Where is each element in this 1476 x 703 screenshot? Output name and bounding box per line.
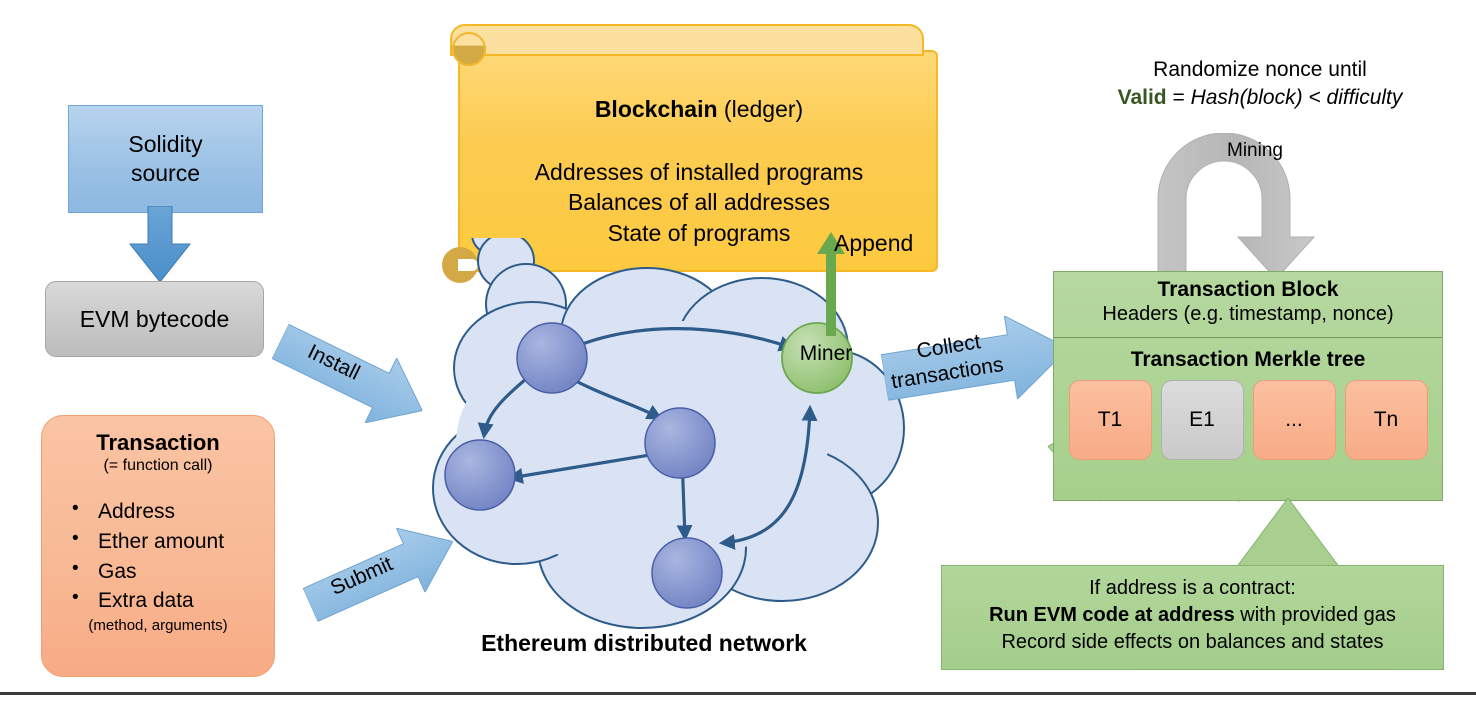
transaction-field-list: Address Ether amount Gas Extra data [42, 497, 274, 616]
nonce-line-1: Randomize nonce until [1070, 56, 1450, 84]
transaction-field: Ether amount [68, 527, 274, 557]
valid-keyword: Valid [1118, 86, 1167, 109]
transaction-subtitle: (= function call) [42, 457, 274, 475]
ledger-line-2: Balances of all addresses [466, 187, 932, 217]
transaction-field: Gas [68, 557, 274, 587]
solidity-line-2: source [131, 159, 200, 188]
solidity-line-1: Solidity [128, 130, 202, 159]
miner-label: Miner [786, 342, 866, 366]
transaction-box: Transaction (= function call) Address Et… [41, 415, 275, 677]
run-evm-rest: with provided gas [1235, 604, 1396, 626]
evm-bytecode-box: EVM bytecode [45, 281, 264, 357]
transaction-title: Transaction [42, 430, 274, 456]
ethereum-network-cloud [392, 238, 912, 638]
network-node [645, 408, 715, 478]
network-node [652, 538, 722, 608]
contract-callout-pointer-icon [1236, 496, 1376, 568]
transaction-field: Address [68, 497, 274, 527]
evm-bytecode-label: EVM bytecode [80, 306, 230, 333]
contract-line-3: Record side effects on balances and stat… [942, 629, 1443, 656]
merkle-tile[interactable]: ... [1253, 380, 1336, 460]
mining-label: Mining [1195, 140, 1315, 162]
diagram-canvas: Blockchain (ledger) Addresses of install… [0, 0, 1476, 703]
compile-down-arrow-icon [124, 206, 196, 284]
contract-execution-box: If address is a contract: Run EVM code a… [941, 565, 1444, 670]
transaction-block-headers: Headers (e.g. timestamp, nonce) [1054, 303, 1442, 326]
transaction-field: Extra data [68, 586, 274, 616]
contract-line-2: Run EVM code at address with provided ga… [942, 602, 1443, 629]
merkle-tile[interactable]: Tn [1345, 380, 1428, 460]
scroll-curl-ring-icon [452, 32, 486, 66]
mining-condition-text: Randomize nonce until Valid = Hash(block… [1070, 56, 1450, 113]
merkle-tile[interactable]: T1 [1069, 380, 1152, 460]
transaction-block-title: Transaction Block [1054, 278, 1442, 302]
blockchain-title: Blockchain (ledger) [466, 96, 932, 123]
merkle-tile-row: T1 E1 ... Tn [1054, 380, 1442, 460]
run-evm-bold: Run EVM code at address [989, 604, 1235, 626]
nonce-line-2: Valid = Hash(block) < difficulty [1070, 84, 1450, 112]
merkle-section: Transaction Merkle tree T1 E1 ... Tn [1054, 348, 1442, 460]
blockchain-title-rest: (ledger) [718, 96, 804, 122]
blockchain-title-bold: Blockchain [595, 96, 718, 122]
transaction-extra-note: (method, arguments) [42, 617, 274, 634]
block-header-section: Transaction Block Headers (e.g. timestam… [1054, 272, 1442, 338]
network-label: Ethereum distributed network [404, 630, 884, 657]
network-node [445, 440, 515, 510]
merkle-tile[interactable]: E1 [1161, 380, 1244, 460]
equals-sign: = [1167, 86, 1191, 109]
append-label: Append [834, 230, 913, 257]
scroll-text-block: Blockchain (ledger) Addresses of install… [466, 70, 932, 248]
merkle-tree-title: Transaction Merkle tree [1054, 348, 1442, 372]
contract-line-1: If address is a contract: [942, 575, 1443, 602]
network-node [517, 323, 587, 393]
scroll-top-band [450, 24, 924, 56]
solidity-source-box: Solidity source [68, 105, 263, 213]
transaction-block: Transaction Block Headers (e.g. timestam… [1053, 271, 1443, 501]
bottom-divider [0, 692, 1476, 695]
ledger-line-1: Addresses of installed programs [466, 157, 932, 187]
hash-expression: Hash(block) < difficulty [1191, 86, 1403, 109]
